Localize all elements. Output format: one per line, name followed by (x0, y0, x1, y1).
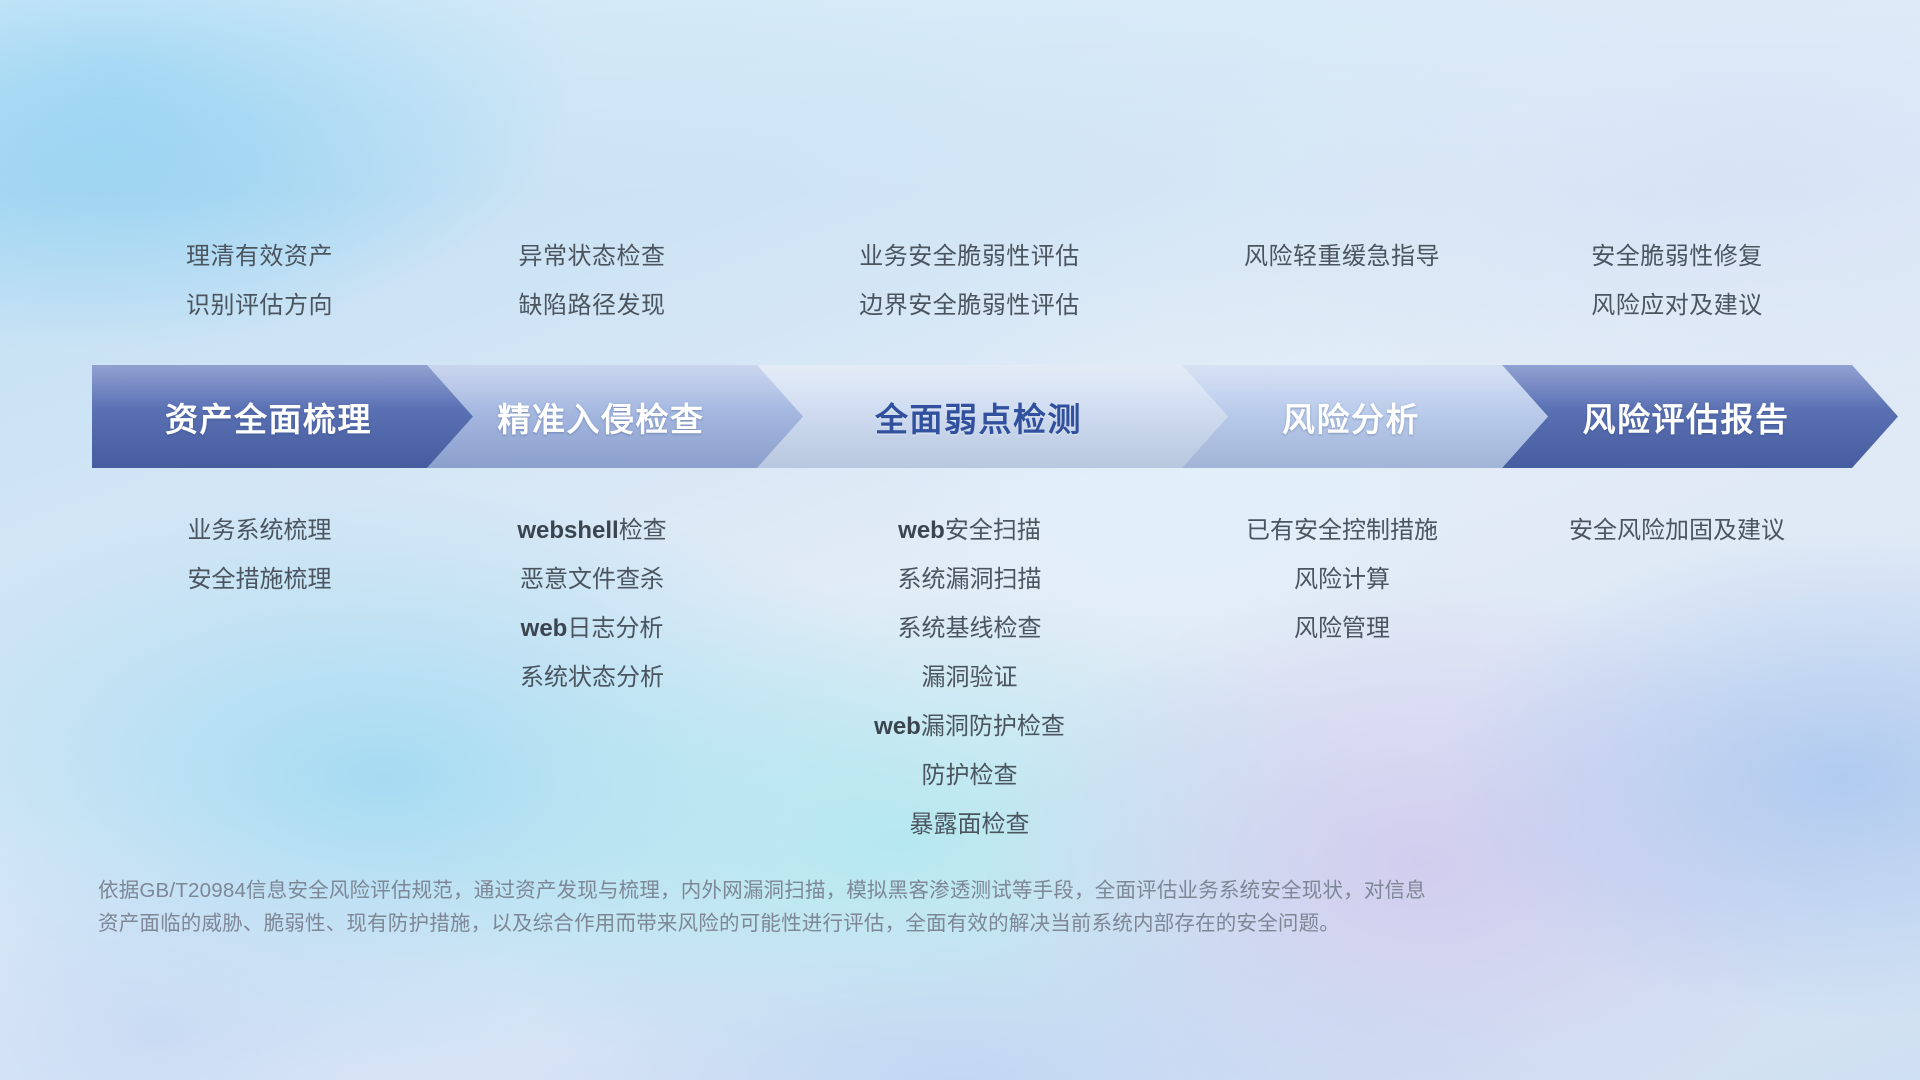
detail-item-text: 暴露面检查 (910, 811, 1030, 838)
footer-line-1: 依据GB/T20984信息安全风险评估规范，通过资产发现与梳理，内外网漏洞扫描，… (98, 874, 1658, 907)
detail-item-keyword: web (874, 713, 921, 740)
process-chevron-band: 资产全面梳理精准入侵检查全面弱点检测风险分析风险评估报告 (92, 365, 1852, 468)
detail-list-item: 系统状态分析 (520, 653, 664, 702)
top-label-line: 安全脆弱性修复 (1591, 232, 1763, 281)
detail-item-text: 安全风险加固及建议 (1569, 517, 1785, 544)
top-label-line: 业务安全脆弱性评估 (859, 232, 1080, 281)
detail-list-item: 系统漏洞扫描 (898, 555, 1042, 604)
detail-list-item: 业务系统梳理 (188, 506, 332, 555)
top-label-line: 风险轻重缓急指导 (1244, 232, 1440, 281)
top-label-line: 识别评估方向 (186, 281, 333, 330)
stage-top-labels-row: 理清有效资产识别评估方向异常状态检查缺陷路径发现业务安全脆弱性评估边界安全脆弱性… (0, 232, 1920, 342)
detail-item-keyword: web (898, 517, 945, 544)
chevron-stage-asset-inventory[interactable]: 资产全面梳理 (92, 365, 473, 468)
top-label-line: 风险应对及建议 (1591, 281, 1763, 330)
detail-item-text: 日志分析 (567, 615, 663, 642)
detail-list-item: web漏洞防护检查 (874, 702, 1065, 751)
top-label-line: 理清有效资产 (186, 232, 333, 281)
detail-list-item: 安全措施梳理 (188, 555, 332, 604)
chevron-stage-risk-analysis[interactable]: 风险分析 (1182, 365, 1548, 468)
top-labels-risk-report: 安全脆弱性修复风险应对及建议 (1477, 232, 1877, 330)
detail-list-item: web日志分析 (521, 604, 664, 653)
detail-item-keyword: web (521, 615, 568, 642)
detail-item-text: 漏洞验证 (922, 664, 1018, 691)
detail-list-item: 防护检查 (922, 751, 1018, 800)
chevron-title-asset-inventory: 资产全面梳理 (165, 393, 372, 441)
top-labels-intrusion-check: 异常状态检查缺陷路径发现 (392, 232, 792, 330)
detail-item-text: 系统状态分析 (520, 664, 664, 691)
detail-list-item: 暴露面检查 (910, 800, 1030, 849)
detail-item-text: 风险管理 (1294, 615, 1390, 642)
detail-list-intrusion-check: webshell检查恶意文件查杀web日志分析系统状态分析 (382, 506, 802, 702)
detail-item-text: 系统基线检查 (898, 615, 1042, 642)
chevron-title-weakness-detection: 全面弱点检测 (875, 393, 1082, 441)
detail-item-text: 恶意文件查杀 (520, 566, 664, 593)
detail-item-text: 系统漏洞扫描 (898, 566, 1042, 593)
detail-item-keyword: webshell (517, 517, 618, 544)
detail-list-item: 已有安全控制措施 (1246, 506, 1438, 555)
detail-item-text: 防护检查 (922, 762, 1018, 789)
detail-list-item: 风险计算 (1294, 555, 1390, 604)
detail-list-item: web安全扫描 (898, 506, 1041, 555)
detail-item-text: 已有安全控制措施 (1246, 517, 1438, 544)
footer-line-2: 资产面临的威胁、脆弱性、现有防护措施，以及综合作用而带来风险的可能性进行评估，全… (98, 907, 1658, 940)
top-labels-weakness-detection: 业务安全脆弱性评估边界安全脆弱性评估 (770, 232, 1170, 330)
detail-list-item: 恶意文件查杀 (520, 555, 664, 604)
detail-list-item: webshell检查 (517, 506, 666, 555)
detail-list-item: 系统基线检查 (898, 604, 1042, 653)
chevron-title-intrusion-check: 精准入侵检查 (498, 393, 705, 441)
top-label-line: 异常状态检查 (519, 232, 666, 281)
footer-description: 依据GB/T20984信息安全风险评估规范，通过资产发现与梳理，内外网漏洞扫描，… (98, 874, 1658, 940)
chevron-title-risk-report: 风险评估报告 (1583, 393, 1790, 441)
chevron-stage-intrusion-check[interactable]: 精准入侵检查 (427, 365, 803, 468)
detail-list-item: 安全风险加固及建议 (1569, 506, 1785, 555)
detail-list-weakness-detection: web安全扫描系统漏洞扫描系统基线检查漏洞验证web漏洞防护检查防护检查暴露面检… (760, 506, 1180, 849)
detail-list-item: 风险管理 (1294, 604, 1390, 653)
top-label-line: 缺陷路径发现 (519, 281, 666, 330)
chevron-stage-risk-report[interactable]: 风险评估报告 (1502, 365, 1898, 468)
slide-canvas: 理清有效资产识别评估方向异常状态检查缺陷路径发现业务安全脆弱性评估边界安全脆弱性… (0, 0, 1920, 1080)
detail-item-text: 风险计算 (1294, 566, 1390, 593)
chevron-title-risk-analysis: 风险分析 (1282, 393, 1420, 441)
detail-item-text: 检查 (619, 517, 667, 544)
detail-list-item: 漏洞验证 (922, 653, 1018, 702)
detail-item-text: 业务系统梳理 (188, 517, 332, 544)
detail-list-risk-report: 安全风险加固及建议 (1467, 506, 1887, 555)
top-label-line: 边界安全脆弱性评估 (859, 281, 1080, 330)
detail-item-text: 安全扫描 (945, 517, 1041, 544)
detail-item-text: 漏洞防护检查 (921, 713, 1065, 740)
detail-item-text: 安全措施梳理 (188, 566, 332, 593)
chevron-stage-weakness-detection[interactable]: 全面弱点检测 (757, 365, 1228, 468)
